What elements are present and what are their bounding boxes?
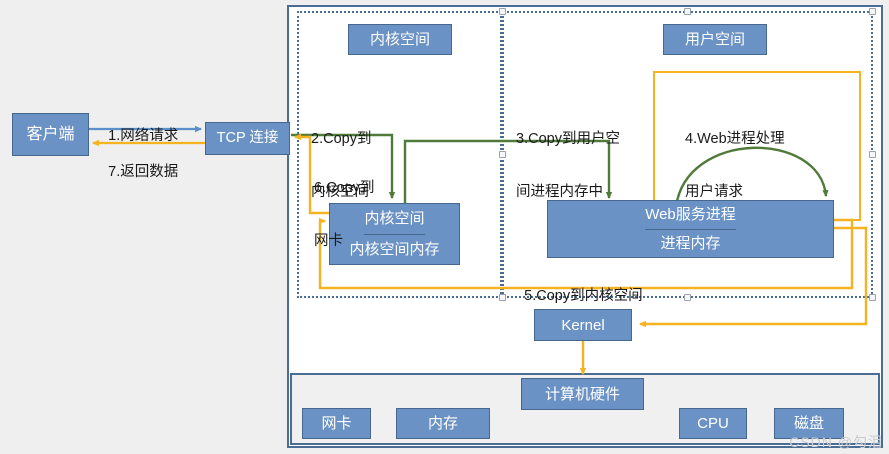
hardware-label-cpu: CPU: [697, 416, 729, 431]
client-box[interactable]: 客户端: [12, 113, 89, 156]
tcp-connection-box[interactable]: TCP 连接: [205, 122, 290, 155]
user-space-title-box[interactable]: 用户空间: [663, 24, 767, 55]
step-6-text-line1: 6.Copy到: [314, 180, 374, 198]
step-3-text-line2: 间进程内存中: [516, 184, 620, 202]
step-1-text: 1.网络请求: [108, 128, 178, 144]
step-6-label: 6.Copy到 网卡: [314, 145, 374, 287]
hardware-label-network-card: 网卡: [321, 416, 351, 431]
computer-hardware-box[interactable]: 计算机硬件: [521, 378, 644, 410]
hardware-label-memory: 内存: [428, 416, 458, 431]
step-7-text: 7.返回数据: [108, 164, 178, 180]
step-5-label: 5.Copy到内核空间: [508, 270, 643, 323]
hardware-box-network-card[interactable]: 网卡: [302, 408, 371, 439]
step-4-text-line2: 用户请求: [685, 184, 785, 202]
step-4-text-line1: 4.Web进程处理: [685, 131, 785, 149]
step-3-text-line1: 3.Copy到用户空: [516, 131, 620, 149]
web-process-box-bottom-label: 进程内存: [660, 236, 720, 251]
computer-hardware-label: 计算机硬件: [545, 387, 620, 402]
step-5-text: 5.Copy到内核空间: [524, 288, 642, 304]
watermark: CSDN @勾泪: [789, 432, 883, 452]
step-6-text-line2: 网卡: [314, 233, 374, 251]
user-space-title-label: 用户空间: [685, 32, 745, 47]
step-3-label: 3.Copy到用户空 间进程内存中: [516, 96, 620, 238]
step-7-label: 7.返回数据: [92, 146, 178, 199]
diagram-canvas: 客户端 TCP 连接 内核空间 用户空间 内核空间 内核空间内存 Web服务进程…: [0, 0, 889, 454]
hardware-box-cpu[interactable]: CPU: [679, 408, 747, 439]
tcp-label: TCP 连接: [217, 131, 279, 146]
hardware-label-disk: 磁盘: [794, 416, 824, 431]
step-4-label: 4.Web进程处理 用户请求: [685, 96, 785, 238]
client-label: 客户端: [26, 127, 74, 143]
kernel-space-title-box[interactable]: 内核空间: [348, 24, 452, 55]
hardware-box-memory[interactable]: 内存: [396, 408, 490, 439]
kernel-space-title-label: 内核空间: [370, 32, 430, 47]
